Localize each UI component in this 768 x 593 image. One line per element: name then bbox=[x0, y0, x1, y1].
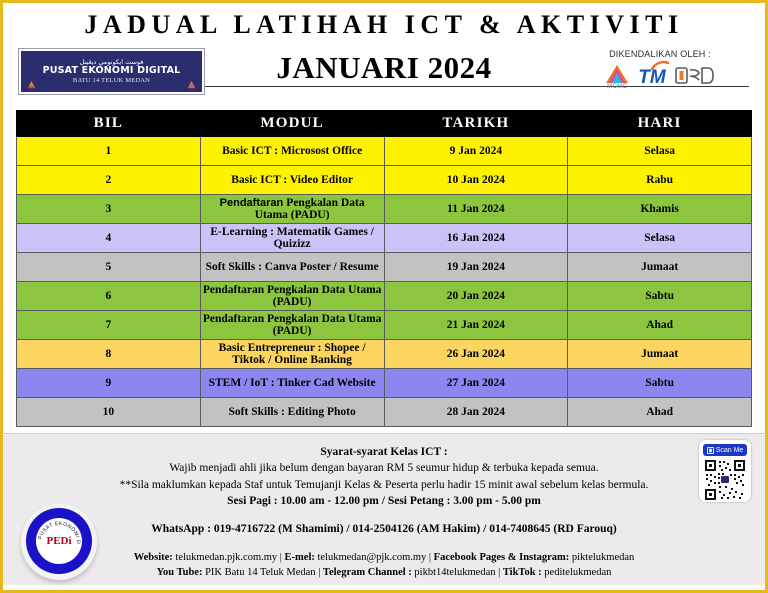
page-title: JADUAL LATIHAH ICT & AKTIVITI bbox=[3, 3, 765, 38]
table-header-row: BIL MODUL TARIKH HARI bbox=[17, 111, 752, 137]
social-value[interactable]: piktelukmedan bbox=[569, 552, 634, 563]
poster-footer: Syarat-syarat Kelas ICT : Wajib menjadi … bbox=[3, 433, 765, 585]
cell-tarikh: 16 Jan 2024 bbox=[384, 224, 568, 253]
sponsors-label: DIKENDALIKAN OLEH : bbox=[577, 49, 743, 59]
cell-tarikh: 26 Jan 2024 bbox=[384, 340, 568, 369]
column-header-tarikh: TARIKH bbox=[384, 111, 568, 137]
cell-modul: Basic ICT : Microsost Office bbox=[200, 137, 384, 166]
qr-scan-me-label: Scan Me bbox=[703, 444, 747, 456]
tm-swoosh-icon bbox=[651, 61, 669, 70]
website-label: Website: bbox=[134, 552, 173, 563]
cell-hari: Sabtu bbox=[568, 282, 752, 311]
cell-tarikh: 19 Jan 2024 bbox=[384, 253, 568, 282]
cell-hari: Sabtu bbox=[568, 369, 752, 398]
cell-hari: Khamis bbox=[568, 195, 752, 224]
tiktok-value[interactable]: peditelukmedan bbox=[542, 567, 612, 578]
links-line-2: You Tube: PIK Batu 14 Teluk Medan | Tele… bbox=[3, 566, 765, 581]
cell-hari: Jumaat bbox=[568, 340, 752, 369]
cell-hari: Rabu bbox=[568, 166, 752, 195]
cell-bil: 10 bbox=[17, 398, 201, 427]
tm-logo-text: TM bbox=[638, 67, 665, 88]
qr-code-icon bbox=[703, 458, 747, 502]
table-row: 1Basic ICT : Microsost Office9 Jan 2024S… bbox=[17, 137, 752, 166]
table-row: 4E-Learning : Matematik Games / Quizizz1… bbox=[17, 224, 752, 253]
cell-modul: Pendaftaran Pengkalan Data Utama (PADU) bbox=[200, 195, 384, 224]
cell-tarikh: 28 Jan 2024 bbox=[384, 398, 568, 427]
cell-modul: Basic ICT : Video Editor bbox=[200, 166, 384, 195]
cell-modul-lead: Pendaftaran bbox=[220, 197, 287, 209]
table-body: 1Basic ICT : Microsost Office9 Jan 2024S… bbox=[17, 137, 752, 427]
banner-subtitle-text: BATU 14 TELUK MEDAN bbox=[73, 77, 150, 84]
cell-modul: Pendaftaran Pengkalan Data Utama (PADU) bbox=[200, 311, 384, 340]
seal-arc-text-icon: PUSAT EKONOMI DIGITAL bbox=[36, 518, 82, 564]
email-value[interactable]: telukmedan@pjk.com.my | bbox=[315, 552, 434, 563]
nsd-logo-icon bbox=[675, 66, 715, 85]
cell-modul: STEM / IoT : Tinker Cad Website bbox=[200, 369, 384, 398]
cell-modul: Basic Entrepreneur : Shopee / Tiktok / O… bbox=[200, 340, 384, 369]
social-label: Facebook Pages & Instagram: bbox=[434, 552, 570, 563]
cell-hari: Selasa bbox=[568, 224, 752, 253]
cell-bil: 6 bbox=[17, 282, 201, 311]
banner-emblem-left-icon bbox=[27, 80, 36, 89]
qr-code-block[interactable]: Scan Me bbox=[699, 440, 751, 502]
cell-tarikh: 27 Jan 2024 bbox=[384, 369, 568, 398]
column-header-modul: MODUL bbox=[200, 111, 384, 137]
telegram-value[interactable]: pikbt14telukmedan | bbox=[412, 567, 503, 578]
mcmc-logo: MCMC bbox=[605, 64, 629, 90]
pedi-banner-logo: فوست ايكونومي ديڠيتل PUSAT EKONOMI DIGIT… bbox=[19, 49, 204, 94]
banner-name-text: PUSAT EKONOMI DIGITAL bbox=[43, 66, 181, 76]
poster-page: JADUAL LATIHAH ICT & AKTIVITI JANUARI 20… bbox=[0, 0, 768, 593]
cell-bil: 9 bbox=[17, 369, 201, 398]
website-value[interactable]: telukmedan.pjk.com.my | bbox=[173, 552, 285, 563]
poster-header: JADUAL LATIHAH ICT & AKTIVITI JANUARI 20… bbox=[3, 3, 765, 105]
nsd-logo bbox=[675, 66, 715, 88]
table-row: 3Pendaftaran Pengkalan Data Utama (PADU)… bbox=[17, 195, 752, 224]
cell-bil: 7 bbox=[17, 311, 201, 340]
telegram-label: Telegram Channel : bbox=[323, 567, 412, 578]
mcmc-logo-text: MCMC bbox=[607, 84, 627, 90]
terms-line-2: **Sila maklumkan kepada Staf untuk Temuj… bbox=[3, 477, 765, 493]
youtube-label: You Tube: bbox=[157, 567, 203, 578]
tm-logo: TM bbox=[638, 68, 665, 87]
table-row: 9STEM / IoT : Tinker Cad Website27 Jan 2… bbox=[17, 369, 752, 398]
whatsapp-contacts: WhatsApp : 019-4716722 (M Shamimi) / 014… bbox=[3, 521, 765, 537]
sponsors-block: DIKENDALIKAN OLEH : MCMC TM bbox=[577, 49, 743, 92]
cell-hari: Jumaat bbox=[568, 253, 752, 282]
sponsor-logo-row: MCMC TM bbox=[577, 62, 743, 92]
table-row: 8Basic Entrepreneur : Shopee / Tiktok / … bbox=[17, 340, 752, 369]
cell-bil: 2 bbox=[17, 166, 201, 195]
cell-tarikh: 10 Jan 2024 bbox=[384, 166, 568, 195]
cell-bil: 8 bbox=[17, 340, 201, 369]
cell-tarikh: 9 Jan 2024 bbox=[384, 137, 568, 166]
qr-label-text: Scan Me bbox=[716, 447, 744, 454]
table-row: 7Pendaftaran Pengkalan Data Utama (PADU)… bbox=[17, 311, 752, 340]
column-header-bil: BIL bbox=[17, 111, 201, 137]
session-times: Sesi Pagi : 10.00 am - 12.00 pm / Sesi P… bbox=[3, 493, 765, 509]
cell-modul: Pendaftaran Pengkalan Data Utama (PADU) bbox=[200, 282, 384, 311]
cell-bil: 1 bbox=[17, 137, 201, 166]
table-row: 10Soft Skills : Editing Photo28 Jan 2024… bbox=[17, 398, 752, 427]
cell-hari: Selasa bbox=[568, 137, 752, 166]
cell-modul: E-Learning : Matematik Games / Quizizz bbox=[200, 224, 384, 253]
youtube-value[interactable]: PIK Batu 14 Teluk Medan | bbox=[202, 567, 322, 578]
cell-modul: Soft Skills : Canva Poster / Resume bbox=[200, 253, 384, 282]
cell-bil: 5 bbox=[17, 253, 201, 282]
cell-bil: 3 bbox=[17, 195, 201, 224]
table-row: 2Basic ICT : Video Editor10 Jan 2024Rabu bbox=[17, 166, 752, 195]
cell-bil: 4 bbox=[17, 224, 201, 253]
terms-heading: Syarat-syarat Kelas ICT : bbox=[3, 444, 765, 460]
cell-modul: Soft Skills : Editing Photo bbox=[200, 398, 384, 427]
email-label: E-mel: bbox=[285, 552, 315, 563]
cell-hari: Ahad bbox=[568, 398, 752, 427]
tiktok-label: TikTok : bbox=[503, 567, 542, 578]
table-row: 6Pendaftaran Pengkalan Data Utama (PADU)… bbox=[17, 282, 752, 311]
cell-tarikh: 21 Jan 2024 bbox=[384, 311, 568, 340]
column-header-hari: HARI bbox=[568, 111, 752, 137]
terms-line-1: Wajib menjadi ahli jika belum dengan bay… bbox=[3, 460, 765, 476]
schedule-table: BIL MODUL TARIKH HARI 1Basic ICT : Micro… bbox=[16, 110, 752, 427]
links-line-1: Website: telukmedan.pjk.com.my | E-mel: … bbox=[3, 551, 765, 566]
cell-tarikh: 11 Jan 2024 bbox=[384, 195, 568, 224]
cell-tarikh: 20 Jan 2024 bbox=[384, 282, 568, 311]
cell-hari: Ahad bbox=[568, 311, 752, 340]
table-row: 5Soft Skills : Canva Poster / Resume19 J… bbox=[17, 253, 752, 282]
svg-text:PUSAT EKONOMI DIGITAL: PUSAT EKONOMI DIGITAL bbox=[36, 518, 81, 544]
pedi-seal-logo: PEDi PUSAT EKONOMI DIGITAL bbox=[17, 502, 101, 586]
mcmc-triangle-icon bbox=[605, 64, 629, 85]
qr-phone-icon bbox=[707, 447, 714, 454]
banner-emblem-right-icon bbox=[187, 80, 196, 89]
